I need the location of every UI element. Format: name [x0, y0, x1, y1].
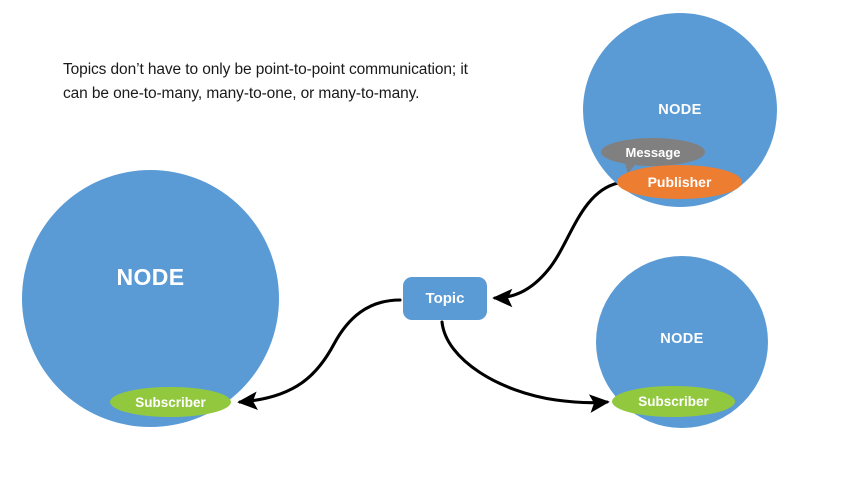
node-label: NODE	[22, 264, 279, 291]
subscriber-pill-left[interactable]: Subscriber	[110, 387, 231, 417]
subscriber-pill-label: Subscriber	[638, 394, 709, 409]
subscriber-pill-label: Subscriber	[135, 395, 206, 410]
arrow-publisher-to-topic	[495, 183, 618, 298]
node-label: NODE	[596, 331, 768, 347]
diagram-canvas: Topics don’t have to only be point-to-po…	[0, 0, 854, 480]
message-callout[interactable]: Message	[601, 138, 705, 166]
node-label: NODE	[583, 102, 777, 118]
topic-box[interactable]: Topic	[403, 277, 487, 320]
publisher-pill-label: Publisher	[648, 174, 712, 190]
message-callout-label: Message	[626, 145, 681, 160]
subscriber-pill-bottom-right[interactable]: Subscriber	[612, 386, 735, 417]
arrow-topic-to-subscriber-bottomright	[442, 322, 607, 403]
topic-label: Topic	[426, 290, 465, 307]
publisher-pill[interactable]: Publisher	[617, 165, 742, 199]
